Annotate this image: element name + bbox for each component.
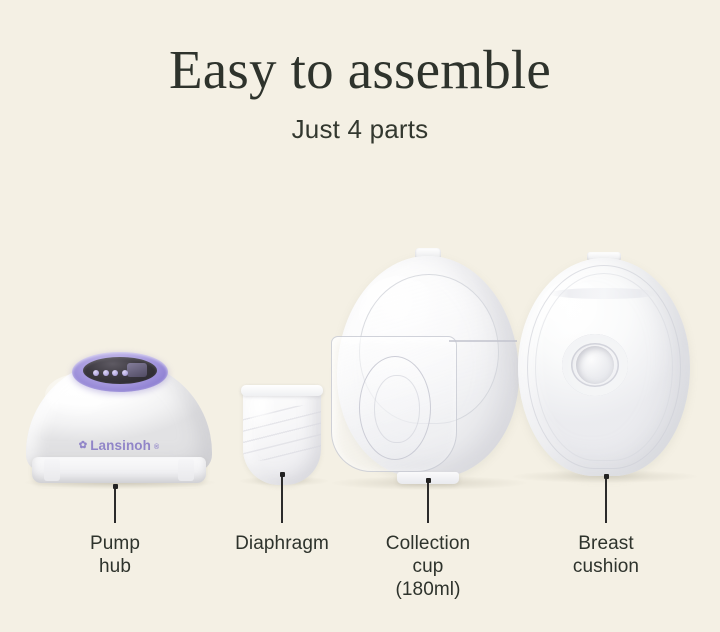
collection-cup-flange: [359, 356, 431, 460]
breast-cushion-center-hole: [562, 334, 628, 396]
pump-hub-button-dot: [112, 370, 118, 376]
leader-line: [114, 489, 115, 523]
pump-hub-base: [32, 457, 206, 483]
product-pump-hub: ✿ Lansinoh ®: [26, 352, 212, 488]
label-pump-hub: Pump hub: [90, 532, 140, 578]
diaphragm-rim: [241, 385, 323, 396]
pump-hub-control-panel: [83, 357, 157, 384]
pump-hub-button-dot: [122, 370, 128, 376]
lansinoh-logo: ✿ Lansinoh ®: [79, 438, 160, 453]
lansinoh-flower-icon: ✿: [79, 440, 87, 451]
pump-hub-button-dot: [93, 370, 99, 376]
diaphragm-body: [243, 385, 321, 485]
label-breast-cushion: Breast cushion: [573, 532, 639, 578]
callout-pump-hub: Pump hub: [82, 484, 148, 578]
label-diaphragm: Diaphragm: [235, 532, 329, 555]
leader-line: [281, 477, 282, 523]
leader-line: [427, 483, 428, 523]
product-diaphragm: [243, 385, 321, 485]
registered-trademark-icon: ®: [154, 444, 159, 451]
pump-hub-button-dot: [103, 370, 109, 376]
pump-hub-display-screen: [127, 363, 147, 377]
product-breast-cushion: [518, 252, 690, 480]
product-collection-cup: [337, 248, 519, 486]
pump-hub-buttons: [93, 370, 128, 376]
collection-cup-seam-line: [449, 340, 517, 342]
callout-collection-cup: Collection cup (180ml): [396, 478, 460, 602]
leader-line: [605, 479, 606, 523]
breast-cushion-embossed-text: [549, 288, 659, 299]
label-collection-cup: Collection cup (180ml): [386, 532, 470, 602]
lansinoh-wordmark: Lansinoh: [90, 438, 151, 453]
callout-diaphragm: Diaphragm: [247, 472, 317, 555]
callout-breast-cushion: Breast cushion: [573, 474, 639, 578]
